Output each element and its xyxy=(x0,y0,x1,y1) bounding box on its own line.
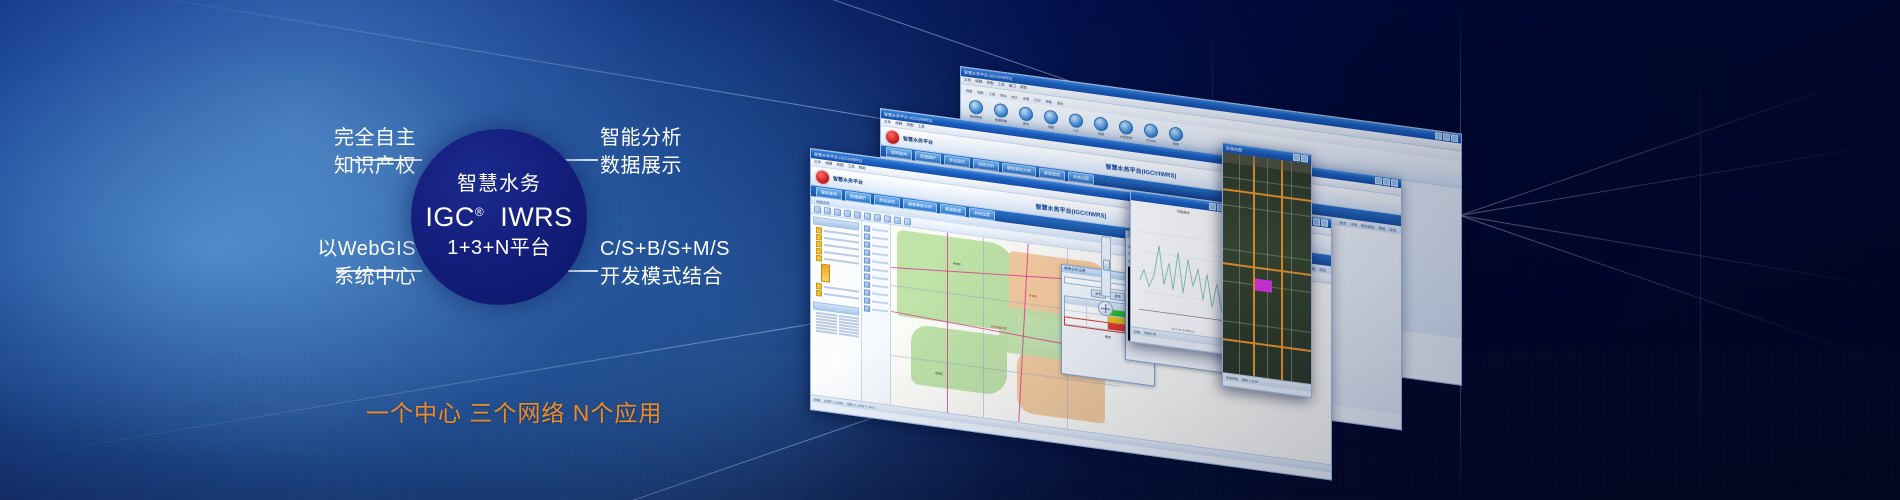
zoom-slider[interactable] xyxy=(1101,236,1111,297)
ribbon-button[interactable]: 调度 xyxy=(1042,109,1060,130)
print-icon[interactable] xyxy=(874,214,881,222)
menu-file[interactable]: 文件 xyxy=(964,78,971,84)
platform-title: 智慧水务平台(IGC®IWRS) xyxy=(1036,201,1107,220)
menu-edit[interactable]: 编辑 xyxy=(825,161,832,167)
revenue-icon xyxy=(1019,105,1033,121)
tool-icon xyxy=(864,281,870,288)
menu-edit[interactable]: 编辑 xyxy=(975,79,982,85)
map-label: 开发区 xyxy=(1029,294,1037,299)
menu-window[interactable]: 窗口 xyxy=(1009,84,1016,90)
platform-title: 智慧水务平台(IGC®IWRS) xyxy=(1106,161,1177,180)
hero-text-cluster: 完全自主 知识产权 以WebGIS 系统中心 智能分析 数据展示 C/S+B/S… xyxy=(0,0,820,500)
ribbon-label: 报表 xyxy=(1173,141,1179,146)
data-collect-icon xyxy=(994,102,1008,118)
feature-label-top-left: 完全自主 知识产权 xyxy=(306,124,416,181)
zoom-out-icon[interactable] xyxy=(834,208,841,216)
feature-label-bottom-right: C/S+B/S+M/S 开发模式结合 xyxy=(600,235,730,292)
flow-line-chart: 流量曲线 2017-08-18 时间 (h) xyxy=(1131,200,1235,340)
water-quality-icon xyxy=(1119,119,1133,135)
ribbon-button[interactable]: GIS xyxy=(1067,112,1085,133)
feature-label-line: 完全自主 xyxy=(306,124,416,152)
tool-icon xyxy=(864,297,870,304)
tool-icon xyxy=(864,241,870,248)
status-ready: 就绪 xyxy=(1134,329,1140,334)
ribbon-label: 营收 xyxy=(1023,121,1029,126)
feature-label-bottom-left: 以WebGIS 系统中心 xyxy=(288,235,416,292)
gis-icon xyxy=(1069,112,1083,128)
top-link[interactable]: 退出 xyxy=(1319,266,1326,272)
tool-icon xyxy=(864,233,870,240)
ribbon-button[interactable]: SCADA xyxy=(1142,122,1160,143)
tool-icon xyxy=(864,289,870,296)
top-link[interactable]: 退出 xyxy=(1389,226,1396,232)
menu-view[interactable]: 视图 xyxy=(836,163,843,169)
dispatch-icon xyxy=(1044,109,1058,125)
ribbon-label: 管网管理 xyxy=(970,114,982,120)
menu-edit[interactable]: 编辑 xyxy=(895,121,902,127)
brand-caption: 智慧水务平台 xyxy=(903,135,933,146)
feature-label-line: 系统中心 xyxy=(288,263,416,291)
tool-icon xyxy=(864,257,870,264)
ribbon-label: 客服 xyxy=(1098,131,1104,136)
clear-button[interactable]: 清除 xyxy=(1110,291,1125,301)
ribbon-button[interactable]: 报表 xyxy=(1167,125,1185,146)
ribbon-label: SCADA xyxy=(1146,138,1156,143)
ribbon-button[interactable]: 客服 xyxy=(1092,115,1110,136)
brand-caption: 智慧水务平台 xyxy=(833,175,863,186)
tool-icon xyxy=(864,273,870,280)
chart-svg xyxy=(1131,200,1235,340)
ribbon-button[interactable]: 管网管理 xyxy=(967,98,985,119)
tool-item[interactable] xyxy=(864,305,888,314)
ribbon-button[interactable]: 营收 xyxy=(1017,105,1035,126)
feature-label-line: 数据展示 xyxy=(600,152,682,180)
full-extent-icon[interactable] xyxy=(894,216,901,224)
hero-banner: 智慧水务平台 (IGC®IWRS) 文件 编辑 视图 工具 窗口 帮助 视图 图… xyxy=(0,0,1900,500)
ribbon-label: 数据采集 xyxy=(995,117,1007,123)
quick-item[interactable]: 工具 xyxy=(989,90,995,96)
top-link[interactable]: 首页 xyxy=(1339,220,1346,226)
identify-icon[interactable] xyxy=(864,212,871,220)
status-scale: 比例尺 1:5000 xyxy=(824,398,843,405)
menu-help[interactable]: 帮助 xyxy=(1020,85,1027,91)
quick-item[interactable]: 统计 xyxy=(1012,93,1018,99)
map-label: 新城区 xyxy=(953,261,961,266)
status-conn: 连接正常 xyxy=(1144,330,1156,336)
pipe-network-icon xyxy=(969,99,983,115)
status-zoom: 缩放 1:2000 xyxy=(1242,377,1258,383)
feature-label-line: C/S+B/S+M/S xyxy=(600,235,730,263)
brand-circle-line3: 1+3+N平台 xyxy=(447,237,551,261)
map-label: 老城区 xyxy=(935,371,943,376)
zoom-in-icon[interactable] xyxy=(824,207,831,215)
quick-item[interactable]: 退出 xyxy=(1057,100,1063,106)
feature-label-line: 开发模式结合 xyxy=(600,263,730,291)
quick-item[interactable]: 帮助 xyxy=(1046,98,1052,104)
tool-icon xyxy=(864,249,870,256)
select-icon[interactable] xyxy=(844,210,851,218)
quick-item[interactable]: 图层 xyxy=(977,89,983,95)
brand-iwrs: IWRS xyxy=(500,202,573,232)
selected-block[interactable] xyxy=(1255,278,1272,292)
imagery-map-canvas[interactable] xyxy=(1223,152,1311,384)
ribbon-button[interactable]: 水质监测 xyxy=(1117,119,1135,140)
ribbon-label: GIS xyxy=(1073,128,1078,133)
ribbon-button[interactable]: 数据采集 xyxy=(992,102,1010,123)
quick-item[interactable]: 查询 xyxy=(1000,92,1006,98)
menu-tools[interactable]: 工具 xyxy=(918,124,925,130)
quick-item[interactable]: 打印 xyxy=(1034,97,1040,103)
brand-circle-line2: IGC® IWRS xyxy=(425,202,572,234)
customer-service-icon xyxy=(1094,116,1108,132)
menu-help[interactable]: 帮助 xyxy=(859,166,866,172)
tool-icon xyxy=(864,225,870,232)
brand-circle: 智慧水务 IGC® IWRS 1+3+N平台 xyxy=(411,129,587,305)
menu-view[interactable]: 视图 xyxy=(906,123,913,129)
report-icon xyxy=(1169,126,1183,142)
screenshot-stack: 智慧水务平台 (IGC®IWRS) 文件 编辑 视图 工具 窗口 帮助 视图 图… xyxy=(770,0,1530,500)
layer-icon[interactable] xyxy=(884,215,891,223)
measure-icon[interactable] xyxy=(854,211,861,219)
brand-circle-line1: 智慧水务 xyxy=(457,173,541,197)
query-icon[interactable] xyxy=(904,218,911,226)
ribbon-label: 水质监测 xyxy=(1120,134,1132,140)
quick-item[interactable]: 视图 xyxy=(966,87,972,93)
feature-label-line: 知识产权 xyxy=(306,152,416,180)
status-coords: 坐标 X: 1023 Y: 4471 xyxy=(847,401,875,409)
feature-label-line: 智能分析 xyxy=(600,124,682,152)
ribbon-label: 调度 xyxy=(1048,124,1054,129)
top-link[interactable]: 注销 xyxy=(1350,221,1357,227)
hero-tagline: 一个中心 三个网络 N个应用 xyxy=(366,394,662,428)
brand-igc: IGC xyxy=(425,202,475,232)
menu-file[interactable]: 文件 xyxy=(884,120,891,126)
menu-view[interactable]: 视图 xyxy=(986,81,993,87)
status-basemap: 影像底图 xyxy=(1226,375,1238,381)
tool-icon xyxy=(864,265,870,272)
app-window-chart[interactable]: 流量曲线 2017-08-18 时间 (h) 就绪 连接正常 xyxy=(1130,190,1236,356)
company-logo-icon xyxy=(886,129,899,144)
menu-tools[interactable]: 工具 xyxy=(848,164,855,170)
tool-icon xyxy=(864,305,870,312)
slider-knob[interactable] xyxy=(1103,259,1110,271)
top-link[interactable]: 帮助 xyxy=(1378,225,1385,231)
feature-label-line: 以WebGIS xyxy=(288,235,416,263)
registered-mark: ® xyxy=(475,205,484,219)
tool-palette[interactable] xyxy=(862,221,891,405)
feature-label-top-right: 智能分析 数据展示 xyxy=(600,124,682,181)
app-window-imagery-map[interactable]: 影像地图 影像底图 缩放 xyxy=(1222,142,1312,398)
menu-tools[interactable]: 工具 xyxy=(998,82,1005,88)
quick-item[interactable]: 设置 xyxy=(1023,95,1029,101)
scada-icon xyxy=(1144,122,1158,138)
